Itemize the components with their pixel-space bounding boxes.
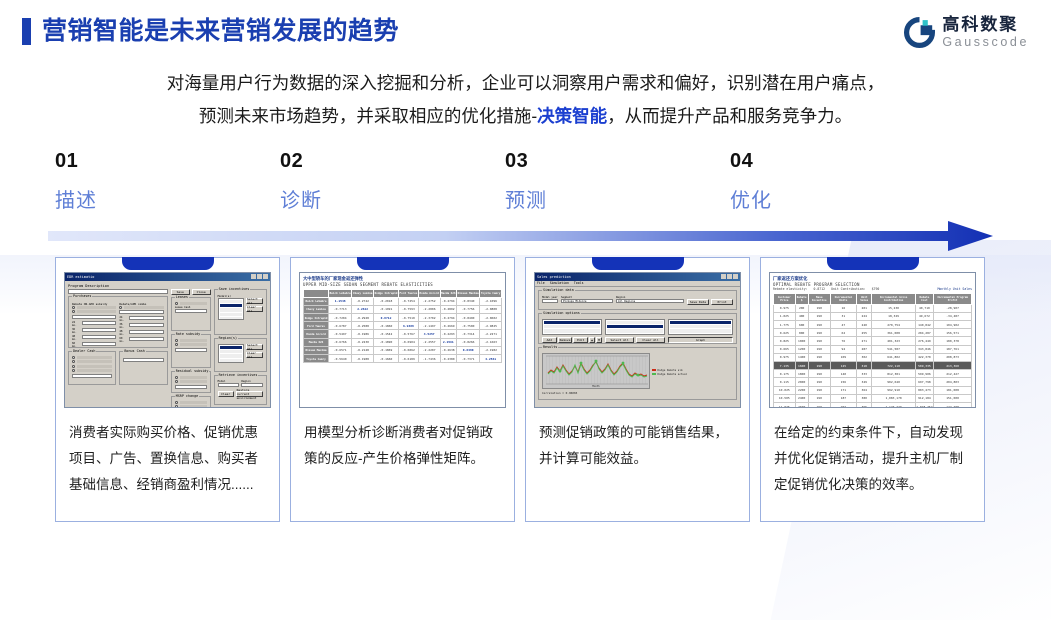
cell: 0.975 [774, 304, 796, 312]
cell: -0.2802 [440, 305, 456, 313]
radio-no-subsidy[interactable] [175, 302, 207, 305]
row-header: Honda Accord [304, 330, 329, 338]
cell: 190 [808, 402, 830, 407]
group-leases-label: Leases [175, 295, 189, 299]
window-buttons[interactable] [251, 274, 268, 279]
cell: 1.025 [774, 312, 796, 320]
cell: 722,110 [872, 362, 915, 370]
table-row: 0.62580019062255361,008204,287156,571 [774, 329, 972, 337]
cell: 109 [830, 353, 856, 361]
table-row: Toyota Camry-0.5640-0.1988-0.1660-0.6189… [304, 354, 502, 362]
step-number: 03 [505, 150, 730, 173]
cell: 599,906 [915, 370, 933, 378]
select-all-regions-button[interactable]: Select All [246, 344, 263, 350]
card-list: EDR estimatio Program Description Purcha… [0, 257, 1051, 522]
cell: 190 [808, 321, 830, 329]
cell: 18,329 [872, 312, 915, 320]
brand-logo: 高科数聚 Gausscode [904, 16, 1029, 49]
cell: 333 [857, 370, 872, 378]
col-header: Honda Accord [418, 289, 440, 297]
table-row: Honda Accord-0.5497-0.1986-0.1542-0.5767… [304, 330, 502, 338]
card-diagnose[interactable]: 大中型轿车的厂家现金返还弹性 UPPER MID-SIZE SEDAN SEGM… [290, 257, 515, 522]
cell: -0.2293 [440, 330, 456, 338]
cell: 201 [857, 304, 872, 312]
radio-msrp-pct[interactable] [175, 405, 207, 408]
step-item-3: 03 预测 [505, 150, 730, 213]
cell: 4.2561 [480, 354, 502, 362]
cell: 422,370 [915, 353, 933, 361]
step-list: 01 描述 02 诊断 03 预测 04 优化 [0, 150, 1051, 213]
cell: 190 [808, 312, 830, 320]
card-caption: 用模型分析诊断消费者对促销政策的反应-产生价格弹性矩阵。 [291, 408, 514, 483]
gausscode-g-logo-icon [904, 17, 935, 48]
unit-contribution-value: $790 [872, 287, 880, 291]
table-row: 7.1351600190125318722,110509,335213,360 [774, 362, 972, 370]
clear-button[interactable]: Clear [218, 391, 234, 397]
intro-line-2-suffix: ，从而提升产品和服务竞争力。 [607, 106, 852, 126]
purchase-amount-input[interactable] [72, 315, 116, 319]
cell: -2.2557 [418, 338, 440, 346]
cell: -0.2638 [440, 346, 456, 354]
screenshot-rebate-elasticity-matrix: 大中型轿车的厂家现金返还弹性 UPPER MID-SIZE SEDAN SEGM… [299, 272, 506, 408]
table-row: Dodge Intrepid-0.7204-0.29280.8712-0.751… [304, 313, 502, 321]
cell: -0.2669 [440, 322, 456, 330]
cell: 16 [830, 304, 856, 312]
combo-term-36: 36 mo. [119, 323, 128, 329]
cell: 208,873 [934, 353, 972, 361]
step-item-4: 04 优化 [730, 150, 955, 213]
radio-money-factor[interactable] [175, 339, 207, 342]
cell: 2.1591 [440, 338, 456, 346]
cell: 47 [830, 321, 856, 329]
combo-term-24-select[interactable] [129, 316, 163, 320]
cell: 600 [795, 321, 808, 329]
cell: 361,008 [872, 329, 915, 337]
cell: 204,287 [915, 329, 933, 337]
cell: 62 [830, 329, 856, 337]
radio-msrp-amount[interactable] [175, 401, 207, 404]
cell: -2.9825 [480, 322, 502, 330]
page-title: 营销智能是未来营销发展的趋势 [42, 19, 399, 44]
table-row: 0.825100019076271401,323276,449180,378 [774, 337, 972, 345]
table-row: 0.9752001901620115,23040,710-28,907 [774, 304, 972, 312]
remove-button[interactable]: Remove [558, 337, 573, 343]
cell: 271 [857, 337, 872, 345]
cell: 190 [808, 337, 830, 345]
cell: 1600 [795, 362, 808, 370]
cell: -0.8490 [456, 313, 479, 321]
col-header: Incremental Gross Contribution [872, 293, 915, 304]
group-purchases-label: Purchases [72, 294, 92, 298]
cell: -0.2588 [352, 322, 374, 330]
group-bonus-cash-label: Bonus Cash [123, 349, 145, 353]
table-header-row: Buick LeSabre Chevy Lumina Dodge Intrepi… [304, 289, 502, 297]
row-header: Chevy Lumina [304, 305, 329, 313]
dialog-body: Program Description Purchases Rebate ON-… [65, 281, 270, 408]
cell: 156,571 [934, 329, 972, 337]
cell: -0.8266 [456, 338, 479, 346]
col-header: Toyota Camry [480, 289, 502, 297]
cell: 800 [795, 329, 808, 337]
cell: -0.1890 [373, 338, 398, 346]
cell: 992,910 [872, 386, 915, 394]
cell: 11.045 [774, 402, 796, 407]
table-header-row: Customer Price Rebate $ Base Incentive I… [774, 293, 972, 304]
cell: 395 [857, 402, 872, 407]
cell: 202 [830, 402, 856, 407]
legend-item-sim: Dodge Dakota sim [652, 369, 687, 372]
clear-all-button[interactable]: Clear All [636, 337, 665, 343]
retrieve-region-select[interactable] [241, 383, 263, 388]
step-number: 01 [55, 150, 280, 173]
col-header: Unit Sales [857, 293, 872, 304]
progress-arrow-icon [48, 221, 993, 251]
group-results-label: Results [542, 345, 558, 349]
move-up-icon[interactable]: ▲ [589, 337, 595, 343]
cell: -2.2806 [418, 305, 440, 313]
card-caption: 消费者实际购买价格、促销优惠项目、广告、置换信息、购买者基础信息、经销商盈利情况… [56, 408, 279, 509]
card-optimize[interactable]: 厂家返还方案优化 OPTIMAL REBATE PROGRAM SELECTIO… [760, 257, 985, 522]
print-button[interactable]: Print [711, 299, 733, 305]
menu-tools[interactable]: Tools [574, 281, 584, 285]
cell: 190 [808, 394, 830, 402]
rebate-elasticity-label: Rebate elasticity: [773, 287, 808, 291]
cell: 0.825 [774, 337, 796, 345]
select-all-button[interactable]: Select All [605, 337, 634, 343]
cell: 697,798 [915, 378, 933, 386]
step-label: 优化 [730, 184, 955, 213]
title-accent-bar [22, 18, 31, 45]
radio-no-apr-subsidy[interactable] [72, 310, 116, 313]
cell: 171 [830, 386, 856, 394]
table-row: Ford Taurus-0.6787-0.2588-0.18606.9488-2… [304, 322, 502, 330]
cell: -0.5640 [329, 354, 352, 362]
simulation-body: Simulation data Model year Segment Picku… [535, 287, 740, 406]
cell: 2400 [795, 394, 808, 402]
cell: 1400 [795, 353, 808, 361]
radio-no-rebate[interactable] [72, 306, 116, 309]
col-header: Nissan Maxima [456, 289, 479, 297]
row-header: Nissan Maxima [304, 346, 329, 354]
cell: 151,000 [934, 394, 972, 402]
row-header: Mazda 626 [304, 338, 329, 346]
logo-name-en: Gausscode [942, 36, 1029, 49]
residual-subsidy-input[interactable] [175, 385, 207, 389]
cell: -0.7371 [456, 354, 479, 362]
row-header: Buick LeSabre [304, 297, 329, 305]
segment-select[interactable]: Pickups Midsize [561, 299, 613, 304]
restore-environment-button[interactable]: Restore current environment [236, 391, 263, 397]
cell: 224 [857, 312, 872, 320]
cell: 187 [830, 394, 856, 402]
cell: -2.2752 [418, 297, 440, 305]
cell: 1800 [795, 370, 808, 378]
term-48: 48 mo. [72, 335, 81, 341]
cell: -2.3702 [418, 313, 440, 321]
cell: 0.8712 [373, 313, 398, 321]
card-tab [357, 257, 449, 270]
cell: 4.5257 [418, 330, 440, 338]
radio-amount[interactable] [175, 376, 207, 379]
cell: 190 [808, 353, 830, 361]
cell: 10.505 [774, 394, 796, 402]
close-button[interactable]: Close [192, 289, 211, 295]
cell: 190 [808, 386, 830, 394]
model-listbox[interactable] [218, 298, 244, 320]
table-row: 1.0254001903122418,32949,672-34,487 [774, 312, 972, 320]
col-header: Incremental Program Profit [934, 293, 972, 304]
legend-label: Dodge Dakota actual [658, 373, 688, 376]
radio-apr[interactable] [175, 343, 207, 346]
table-row: 0.665120019094287541,587343,846187,761 [774, 345, 972, 353]
card-tab [827, 257, 919, 270]
cell: 1.775 [774, 321, 796, 329]
cell: 270,754 [872, 321, 915, 329]
step-label: 预测 [505, 184, 730, 213]
cell: -0.7314 [456, 330, 479, 338]
term-24: 24 mo. [72, 321, 81, 327]
cell: 0.665 [774, 345, 796, 353]
cell: 7.135 [774, 362, 796, 370]
cell: 1.1548 [329, 297, 352, 305]
card-predict[interactable]: Sales prediction File Simulation Tools S… [525, 257, 750, 522]
cell: 156 [830, 378, 856, 386]
card-caption: 在给定的约束条件下，自动发现并优化促销活动，提升主机厂制定促销优化决策的效率。 [761, 408, 984, 509]
intro-line-1: 对海量用户行为数据的深入挖掘和分析，企业可以洞察用户需求和偏好，识别潜在用户痛点… [26, 67, 1026, 100]
cell: -0.7713 [329, 305, 352, 313]
cell: 190 [808, 329, 830, 337]
cell: 1200 [795, 345, 808, 353]
table-row: 0.1152000190156349902,640697,798204,803 [774, 378, 972, 386]
row-header: Dodge Intrepid [304, 313, 329, 321]
table-row: Mazda 626-0.6766-0.2230-0.1890-0.6904-2.… [304, 338, 502, 346]
cell: -0.6904 [399, 338, 419, 346]
cell: -0.1869 [373, 346, 398, 354]
scenario-listbox[interactable] [542, 319, 602, 335]
slide-header: 营销智能是未来营销发展的趋势 高科数聚 Gausscode [0, 0, 1051, 45]
cell: -2.2207 [418, 346, 440, 354]
term-60: 60 mo. [72, 342, 81, 348]
term-36: 36 mo. [72, 328, 81, 334]
cell: 212,427 [934, 370, 972, 378]
group-dealer-cash-label: Dealer Cash [72, 349, 96, 353]
cell: 240 [857, 321, 872, 329]
cell: -0.2794 [440, 297, 456, 305]
cell: 140 [830, 370, 856, 378]
term-48-input[interactable] [82, 335, 116, 339]
cell: 1,083,170 [872, 394, 915, 402]
cell: -0.7500 [456, 322, 479, 330]
lease-cash-input[interactable] [175, 309, 207, 313]
cell: 318 [857, 362, 872, 370]
cell: 213,360 [934, 362, 972, 370]
cell: 541,587 [872, 345, 915, 353]
intro-paragraph: 对海量用户行为数据的深入挖掘和分析，企业可以洞察用户需求和偏好，识别潜在用户痛点… [26, 67, 1026, 134]
retrieve-model-select[interactable] [218, 383, 240, 388]
dealer-cash-input[interactable] [72, 374, 112, 378]
legend-item-actual: Dodge Dakota actual [652, 373, 687, 376]
cell: 104,902 [934, 321, 972, 329]
col-header: Customer Price [774, 293, 796, 304]
save-data-button[interactable]: Save Data [687, 299, 709, 305]
col-header: Mazda 626 [440, 289, 456, 297]
chart-x-axis-label: Month [543, 385, 649, 388]
col-header: Buick LeSabre [329, 289, 352, 297]
table-row: 0.1751800190140333812,381599,906212,427 [774, 370, 972, 378]
col-header: Ford Taurus [399, 289, 419, 297]
cell: 144,708 [934, 402, 972, 407]
progress-arrow-wrap [0, 221, 1051, 255]
screenshot-edr-estimation-dialog: EDR estimatio Program Description Purcha… [64, 272, 271, 408]
title-row: 营销智能是未来营销发展的趋势 [0, 18, 1051, 45]
radio-not-offered[interactable] [119, 306, 163, 309]
cell: 49,672 [915, 312, 933, 320]
legend-label: Dodge Dakota sim [658, 369, 683, 372]
cell: 401,323 [872, 337, 915, 345]
output-listbox[interactable] [668, 319, 733, 335]
add-button[interactable]: Add [542, 337, 557, 343]
model-year-select[interactable] [542, 299, 558, 304]
cell: -2.2271 [480, 330, 502, 338]
region-listbox[interactable] [218, 344, 244, 363]
menu-file[interactable]: File [537, 281, 545, 285]
step-label: 诊断 [280, 184, 505, 213]
radio-cash-only[interactable] [72, 356, 112, 359]
cell: -0.1860 [373, 322, 398, 330]
cell: -0.2380 [440, 354, 456, 362]
cell: -0.2742 [352, 297, 374, 305]
cell: -28,907 [934, 304, 972, 312]
cell: 912,184 [915, 394, 933, 402]
radio-pct-msrp[interactable] [175, 380, 207, 383]
clear-all-models-button[interactable]: Clear All [246, 306, 263, 312]
cell: 31 [830, 312, 856, 320]
cell: 2600 [795, 402, 808, 407]
cell: 190 [808, 345, 830, 353]
corner-cell [304, 289, 329, 297]
cell: -0.6062 [399, 346, 419, 354]
radio-all-cash-fin-lease[interactable] [72, 365, 112, 368]
elasticity-matrix-table: Buick LeSabre Chevy Lumina Dodge Intrepi… [303, 289, 502, 364]
edit-button[interactable]: Edit [573, 337, 588, 343]
term-60-input[interactable] [82, 342, 116, 346]
screenshot-sales-simulation-window: Sales prediction File Simulation Tools S… [534, 272, 741, 408]
cell: 40,710 [915, 304, 933, 312]
intro-line-2: 预测未来市场趋势，并采取相应的优化措施-决策智能，从而提升产品和服务竞争力。 [26, 100, 1026, 133]
combo-term-60-select[interactable] [129, 337, 163, 341]
window-buttons[interactable] [721, 274, 738, 279]
cell: -0.5497 [329, 330, 352, 338]
cell: -0.1542 [373, 330, 398, 338]
cell: 509,335 [915, 362, 933, 370]
combo-term-36-select[interactable] [129, 323, 163, 327]
optimization-results-table: Customer Price Rebate $ Base Incentive I… [773, 293, 972, 408]
cell: 0.625 [774, 329, 796, 337]
radio-rebate-cash-for[interactable] [72, 360, 112, 363]
model-listbox[interactable] [605, 319, 665, 335]
window-title: EDR estimatio [67, 275, 94, 279]
menu-simulation[interactable]: Simulation [550, 281, 569, 285]
cell: 400 [795, 312, 808, 320]
intro-highlight: 决策智能 [537, 106, 607, 126]
model-year-label: Model year [542, 296, 558, 299]
cell: 803,473 [915, 386, 933, 394]
table-row: 11.04526001902023951,173,4491,028,752144… [774, 402, 972, 407]
cell: -0.1660 [373, 354, 398, 362]
cell: -0.7204 [329, 313, 352, 321]
cell: 2000 [795, 378, 808, 386]
region-select[interactable]: All Regions [616, 299, 684, 304]
cell: 181,008 [934, 386, 972, 394]
term-24-input[interactable] [82, 321, 116, 325]
cell: 200 [795, 304, 808, 312]
chart-legend: Dodge Dakota sim Dodge Dakota actual [652, 353, 687, 389]
cell: 190 [808, 304, 830, 312]
move-down-icon[interactable]: ▼ [596, 337, 602, 343]
table-row: 10.50524001901873801,083,170912,184151,0… [774, 394, 972, 402]
bonus-cash-input[interactable] [123, 358, 163, 363]
cell: 2.2622 [352, 305, 374, 313]
unit-contribution-label: Unit Contribution: [831, 287, 866, 291]
group-retrieve-incentives-label: Retrieve incentives [218, 373, 259, 377]
cell: 10.025 [774, 386, 796, 394]
cell: -2.1982 [480, 346, 502, 354]
cell: 204,803 [934, 378, 972, 386]
combo-term-24: 24 mo. [119, 316, 128, 322]
rate-subsidy-input[interactable] [175, 348, 207, 352]
row-header: Toyota Camry [304, 354, 329, 362]
intro-line-2-prefix: 预测未来市场趋势，并采取相应的优化措施- [199, 106, 537, 126]
cell: -0.2230 [352, 338, 374, 346]
col-header: Rebate $ [795, 293, 808, 304]
opt-subheader: Rebate elasticity: 0.8712 Unit Contribut… [773, 287, 972, 291]
radio-lease-only[interactable] [72, 369, 112, 372]
card-describe[interactable]: EDR estimatio Program Description Purcha… [55, 257, 280, 522]
cell: -0.8340 [456, 297, 479, 305]
window-titlebar: EDR estimatio [65, 273, 270, 281]
cell: 0.975 [774, 353, 796, 361]
group-regions-label: Region(s) [218, 336, 238, 340]
cell: 2200 [795, 386, 808, 394]
select-all-models-button[interactable]: Select All [246, 298, 263, 304]
graph-button[interactable]: Graph [668, 337, 733, 343]
combo-term-60: 60 mo. [119, 337, 128, 343]
cell: 125 [830, 362, 856, 370]
cell: 641,802 [872, 353, 915, 361]
cell: -2.1497 [418, 322, 440, 330]
table-row: 10.0252200190171364992,910803,473181,008 [774, 386, 972, 394]
clear-all-regions-button[interactable]: Clear All [246, 352, 263, 358]
group-save-incentives-label: Save incentives [218, 287, 251, 291]
step-item-2: 02 诊断 [280, 150, 505, 213]
table-row: 0.9751400190109302641,802422,370208,873 [774, 353, 972, 361]
step-number: 04 [730, 150, 955, 173]
window-titlebar: Sales prediction [535, 273, 740, 281]
combo-term-48-select[interactable] [129, 330, 163, 334]
term-36-input[interactable] [82, 328, 116, 332]
cell: 180,378 [934, 337, 972, 345]
cell: -0.6571 [329, 346, 352, 354]
cell: -0.7593 [399, 305, 419, 313]
step-item-1: 01 描述 [55, 150, 280, 213]
rebate-elasticity-value: 0.8712 [814, 287, 826, 291]
table-row: Buick LeSabre1.1548-0.2742-0.2018-0.7254… [304, 297, 502, 305]
combo-input[interactable] [119, 310, 163, 314]
logo-name-cn: 高科数聚 [942, 16, 1029, 33]
cell: -2.0808 [480, 305, 502, 313]
group-rate-subsidy-label: Rate subsidy [175, 332, 202, 336]
window-title: Sales prediction [537, 275, 571, 279]
